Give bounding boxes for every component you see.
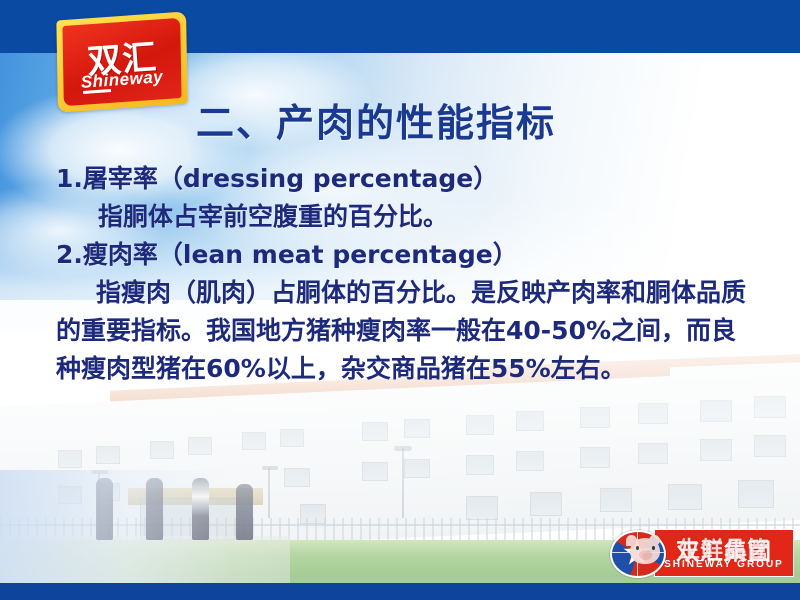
person-figure: [96, 478, 113, 540]
shineway-group-logo: 双汇集团 SHINEWAY GROUP: [610, 526, 792, 578]
bottom-blue-bar: [0, 583, 800, 600]
logo-red-plate: 双汇集团 SHINEWAY GROUP: [654, 529, 794, 577]
item1-detail: 指胴体占宰前空腹重的百分比。: [56, 198, 756, 236]
slide-body: 1.屠宰率（dressing percentage） 指胴体占宰前空腹重的百分比…: [56, 160, 756, 388]
item2-detail: 指瘦肉（肌肉）占胴体的百分比。是反映产肉率和胴体品质的重要指标。我国地方猪种瘦肉…: [56, 274, 746, 388]
item2-heading: 2.瘦肉率（lean meat percentage）: [56, 236, 756, 274]
person-figure: [236, 484, 253, 540]
walkway: [0, 536, 290, 590]
shineway-flag-logo: 双汇 Shineway: [57, 16, 187, 108]
globe-icon: [610, 530, 666, 578]
presentation-slide: 双汇 Shineway 二、产肉的性能指标 1.屠宰率（dressing per…: [0, 0, 800, 600]
item1-heading: 1.屠宰率（dressing percentage）: [56, 160, 756, 198]
person-figure: [146, 478, 163, 540]
group-logo-english: SHINEWAY GROUP: [655, 559, 793, 570]
page-title: 二、产肉的性能指标: [196, 92, 556, 147]
person-figure: [192, 478, 209, 540]
